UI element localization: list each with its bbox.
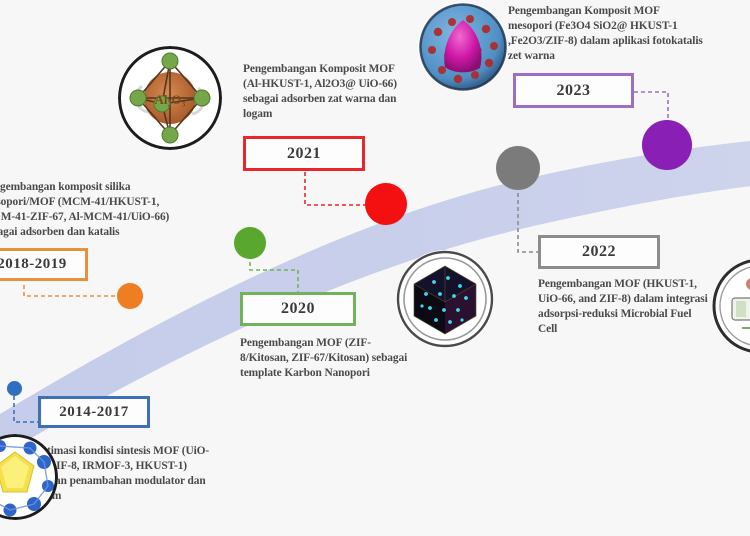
core-shell-particle-image [418, 2, 508, 92]
al2o3-octahedron-image: Al₂O₃ [118, 46, 222, 150]
description-2023: Pengembangan Komposit MOF mesopori (Fe3O… [508, 4, 704, 64]
year-label-2014-2017: 2014-2017 [59, 404, 129, 421]
milestone-dot-2023[interactable] [642, 120, 692, 170]
milestone-dot-2020[interactable] [234, 227, 266, 259]
year-box-2022[interactable]: 2022 [538, 235, 660, 269]
year-box-2023[interactable]: 2023 [513, 73, 634, 108]
milestone-dot-2022[interactable] [496, 146, 540, 190]
year-box-2021[interactable]: 2021 [243, 136, 365, 171]
microbial-fuel-cell-image [712, 258, 750, 354]
milestone-dot-2021[interactable] [365, 183, 407, 225]
milestone-dot-2014[interactable] [7, 381, 22, 396]
description-2021: Pengembangan Komposit MOF (Al-HKUST-1, A… [243, 62, 406, 122]
year-label-2021: 2021 [287, 145, 321, 163]
year-label-2023: 2023 [557, 82, 591, 100]
description-2022: Pengembangan MOF (HKUST-1, UiO-66, and Z… [538, 277, 710, 337]
milestone-dot-2018[interactable] [117, 283, 143, 309]
timeline-infographic: 2014-2017 2018-2019 2020 2021 2022 2023 … [0, 0, 750, 536]
description-2018-2019: Pengembangan komposit silika mesopori/MO… [0, 180, 174, 240]
al2o3-label: Al₂O₃ [155, 92, 186, 107]
year-box-2018-2019[interactable]: 2018-2019 [0, 248, 88, 281]
year-box-2014-2017[interactable]: 2014-2017 [38, 396, 150, 428]
year-box-2020[interactable]: 2020 [240, 292, 356, 326]
description-2020: Pengembangan MOF (ZIF-8/Kitosan, ZIF-67/… [240, 336, 408, 381]
year-label-2022: 2022 [582, 243, 616, 261]
year-label-2018-2019: 2018-2019 [0, 256, 67, 273]
year-label-2020: 2020 [281, 300, 315, 318]
nanoporous-carbon-crystal-image [396, 250, 494, 348]
description-2014-2017: Optimasi kondisi sintesis MOF (UiO-66, Z… [32, 444, 210, 504]
